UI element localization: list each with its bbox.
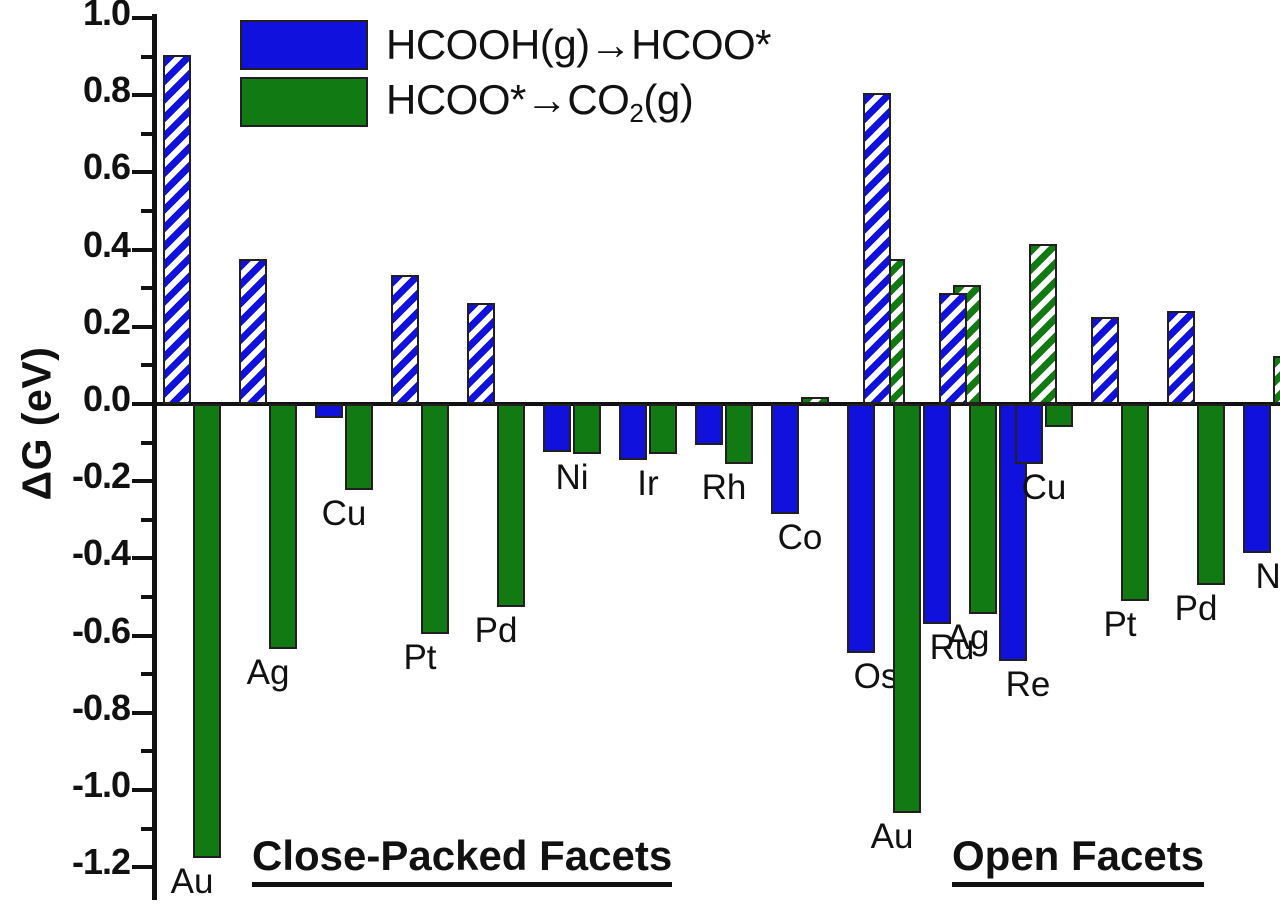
bar-green [893,404,921,813]
bar-green [725,404,753,464]
y-tick-label: 0.6 [10,146,130,188]
y-tick-major [132,170,154,174]
y-tick-major [132,93,154,97]
y-tick-label: -0.4 [10,532,130,574]
bar-green [345,404,373,490]
bar-blue [543,404,571,452]
bar-green [497,404,525,607]
y-tick-minor [141,827,154,831]
legend-label-green-head: HCOO*→CO [386,76,629,123]
y-tick-major [132,402,154,406]
bar-group-label: Cu [299,494,389,534]
y-tick-minor [141,595,154,599]
legend-label-green-tail: (g) [643,76,693,123]
y-tick-major [132,325,154,329]
y-tick-minor [141,518,154,522]
bar-blue [863,93,891,404]
bar-green [801,397,829,404]
legend: HCOOH(g)→HCOO* HCOO*→CO2(g) [240,20,771,135]
y-tick-label: -0.6 [10,610,130,652]
legend-swatch-green [240,77,368,127]
bar-blue [939,293,967,404]
bar-blue [1015,404,1043,464]
y-tick-label: 0.4 [10,224,130,266]
bar-blue [467,303,495,404]
y-tick-minor [141,441,154,445]
legend-label-green-sub: 2 [629,98,643,128]
y-tick-minor [141,363,154,367]
plot-area: AuAgCuPtPdNiIrRhCoOsRuReAuAgCuPtPdNiIrRh… [157,0,1280,916]
bar-group-label: Ag [923,618,1013,658]
bar-group-label: Au [847,817,937,857]
bar-green [1197,404,1225,585]
bar-group-label: Ni [1227,557,1280,597]
bar-group-label: Au [147,862,237,902]
group-caption: Close-Packed Facets [252,832,672,887]
bar-green [1045,404,1073,427]
y-axis-title: ΔG (eV) [14,309,61,539]
bar-green [573,404,601,454]
y-tick-label: -1.0 [10,764,130,806]
bar-green [1121,404,1149,601]
legend-item-hcoo-to-co2: HCOO*→CO2(g) [240,76,771,129]
bar-blue [1243,404,1271,553]
bar-group-label: Re [983,665,1073,705]
bar-blue [847,404,875,653]
y-tick-major [132,248,154,252]
y-tick-label: -1.2 [10,841,130,883]
y-tick-major [132,479,154,483]
bar-blue [771,404,799,514]
bar-green [969,404,997,614]
chart-root: ΔG (eV) 1.00.80.60.40.20.0-0.2-0.4-0.6-0… [0,0,1280,916]
y-tick-label: -0.2 [10,455,130,497]
bar-green [649,404,677,454]
bar-blue [619,404,647,460]
legend-label-green: HCOO*→CO2(g) [386,76,693,129]
bar-blue [1091,317,1119,404]
bar-blue [695,404,723,445]
bar-group-label: Co [755,518,845,558]
bar-green [1273,356,1280,404]
bar-blue [163,55,191,404]
y-tick-label: -0.8 [10,687,130,729]
y-tick-major [132,711,154,715]
bar-blue [239,259,267,404]
bar-blue [315,404,343,418]
bar-group-label: Pd [451,611,541,651]
bar-group-label: Cu [999,468,1089,508]
y-tick-label: 0.8 [10,69,130,111]
y-tick-minor [141,749,154,753]
y-tick-label: 0.0 [10,378,130,420]
y-tick-label: 1.0 [10,0,130,34]
y-tick-minor [141,55,154,59]
group-caption: Open Facets [952,832,1204,887]
y-tick-minor [141,209,154,213]
y-tick-major [132,556,154,560]
legend-item-hcooh-to-hcoo: HCOOH(g)→HCOO* [240,20,771,70]
bar-blue [391,275,419,404]
bar-blue [923,404,951,624]
bar-green [421,404,449,634]
y-tick-major [132,788,154,792]
bar-green [269,404,297,649]
y-tick-major [132,634,154,638]
bar-group-label: Ag [223,653,313,693]
y-tick-minor [141,672,154,676]
bar-blue [1167,311,1195,404]
bar-green [1029,244,1057,404]
y-tick-minor [141,132,154,136]
y-tick-label: 0.2 [10,301,130,343]
y-tick-major [132,16,154,20]
legend-swatch-blue [240,20,368,70]
bar-group-label: Rh [679,468,769,508]
y-tick-minor [141,286,154,290]
bar-green [193,404,221,858]
legend-label-blue: HCOOH(g)→HCOO* [386,21,771,69]
